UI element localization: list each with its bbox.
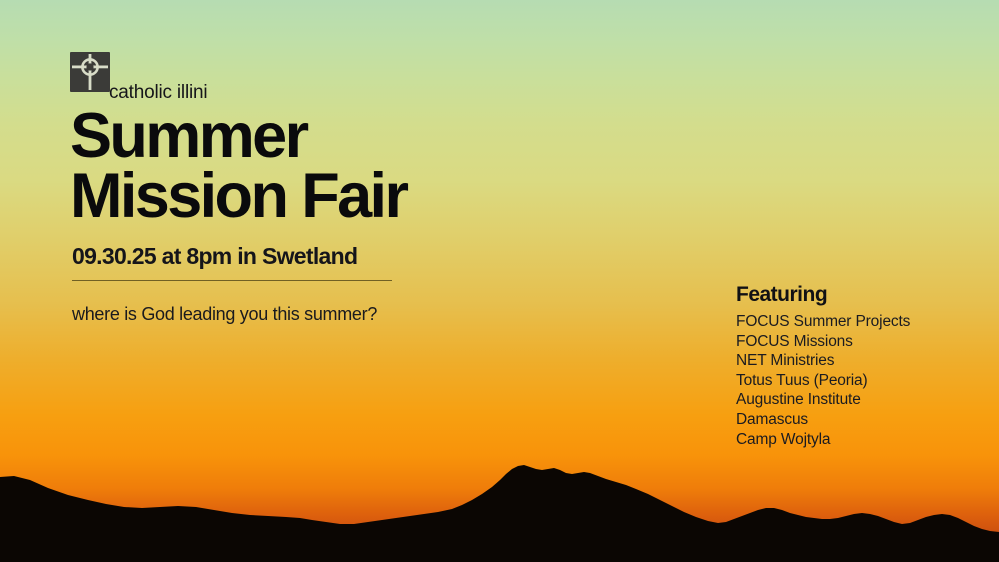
featuring-list: FOCUS Summer Projects FOCUS Missions NET… — [736, 312, 976, 449]
featuring-block: Featuring FOCUS Summer Projects FOCUS Mi… — [736, 283, 976, 449]
list-item: Damascus — [736, 410, 976, 430]
brand-name: catholic illini — [109, 82, 207, 104]
featuring-title: Featuring — [736, 283, 976, 307]
event-date-location: 09.30.25 at 8pm in Swetland — [72, 243, 500, 270]
headline-line-1: Summer — [70, 106, 500, 168]
brand-row: catholic illini — [70, 52, 500, 98]
list-item: Totus Tuus (Peoria) — [736, 371, 976, 391]
mountain-silhouette — [0, 452, 999, 562]
divider-rule — [72, 280, 392, 281]
tagline: where is God leading you this summer? — [72, 304, 500, 325]
list-item: FOCUS Summer Projects — [736, 312, 976, 332]
crosshair-cross-icon — [70, 52, 110, 92]
list-item: Augustine Institute — [736, 390, 976, 410]
list-item: Camp Wojtyla — [736, 430, 976, 450]
main-text-block: catholic illini Summer Mission Fair 09.3… — [70, 52, 500, 325]
list-item: FOCUS Missions — [736, 332, 976, 352]
poster-canvas: catholic illini Summer Mission Fair 09.3… — [0, 0, 999, 562]
list-item: NET Ministries — [736, 351, 976, 371]
headline-line-2: Mission Fair — [70, 166, 500, 228]
